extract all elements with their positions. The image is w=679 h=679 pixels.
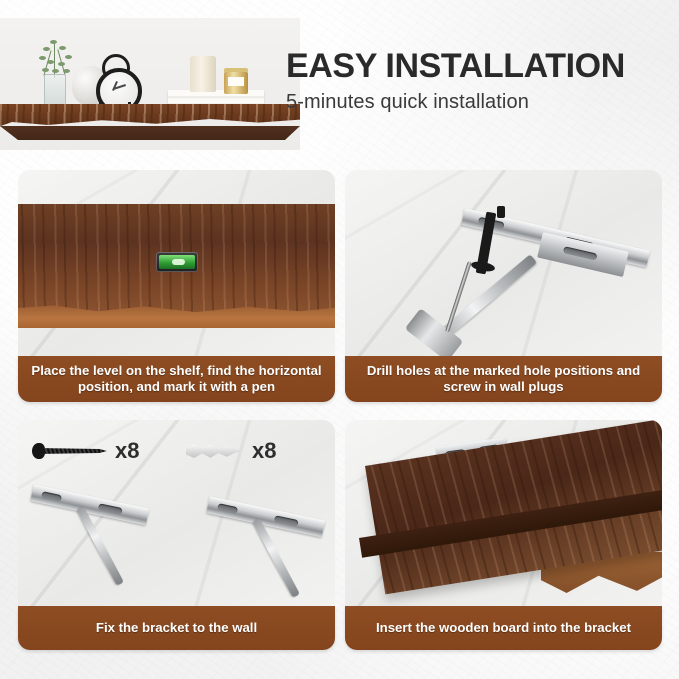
screw-head-icon <box>32 443 45 459</box>
step-card-3: x8 x8 <box>18 420 335 650</box>
screw-quantity: x8 <box>115 438 139 464</box>
level-bubble <box>172 259 185 265</box>
hero-product-photo <box>0 18 300 150</box>
bracket-right-slot-2 <box>274 515 299 527</box>
screw-thread-icon <box>45 447 107 456</box>
small-gold-jar <box>224 72 248 94</box>
bracket-left-slot-1 <box>41 491 62 502</box>
step-2-photo <box>345 170 662 356</box>
steps-grid: Place the level on the shelf, find the h… <box>18 170 662 660</box>
level-vial <box>159 255 195 269</box>
step-2-caption: Drill holes at the marked hole positions… <box>345 356 662 402</box>
alarm-clock <box>92 54 138 106</box>
step-card-1: Place the level on the shelf, find the h… <box>18 170 335 402</box>
bracket-right-slot-1 <box>217 503 238 514</box>
wall-plate-slot <box>563 246 598 260</box>
bracket-left-slot-2 <box>98 503 123 515</box>
shelf-edge <box>0 126 300 140</box>
hardware-row: x8 x8 <box>18 420 335 482</box>
black-screw-head <box>470 260 495 273</box>
glass-vase <box>44 74 66 108</box>
hero-section: EASY INSTALLATION 5-minutes quick instal… <box>0 0 679 160</box>
wall-plug-icon <box>186 443 244 459</box>
step-1-photo <box>18 170 335 356</box>
step-4-photo <box>345 420 662 606</box>
step-3-photo: x8 x8 <box>18 420 335 606</box>
hardware-screw-item: x8 <box>32 438 139 464</box>
screw-tip <box>497 206 505 218</box>
step-3-caption: Fix the bracket to the wall <box>18 606 335 650</box>
page-subtitle: 5-minutes quick installation <box>286 91 676 114</box>
hardware-plug-item: x8 <box>186 438 276 464</box>
pillar-candle <box>190 56 216 92</box>
step-1-caption: Place the level on the shelf, find the h… <box>18 356 335 402</box>
step-card-4: Insert the wooden board into the bracket <box>345 420 662 650</box>
step-card-2: Drill holes at the marked hole positions… <box>345 170 662 402</box>
bubble-level-icon <box>156 252 198 272</box>
step-4-caption: Insert the wooden board into the bracket <box>345 606 662 650</box>
hero-text-block: EASY INSTALLATION 5-minutes quick instal… <box>286 48 676 114</box>
plug-quantity: x8 <box>252 438 276 464</box>
page-title: EASY INSTALLATION <box>286 48 676 84</box>
infographic-page: EASY INSTALLATION 5-minutes quick instal… <box>0 0 679 679</box>
